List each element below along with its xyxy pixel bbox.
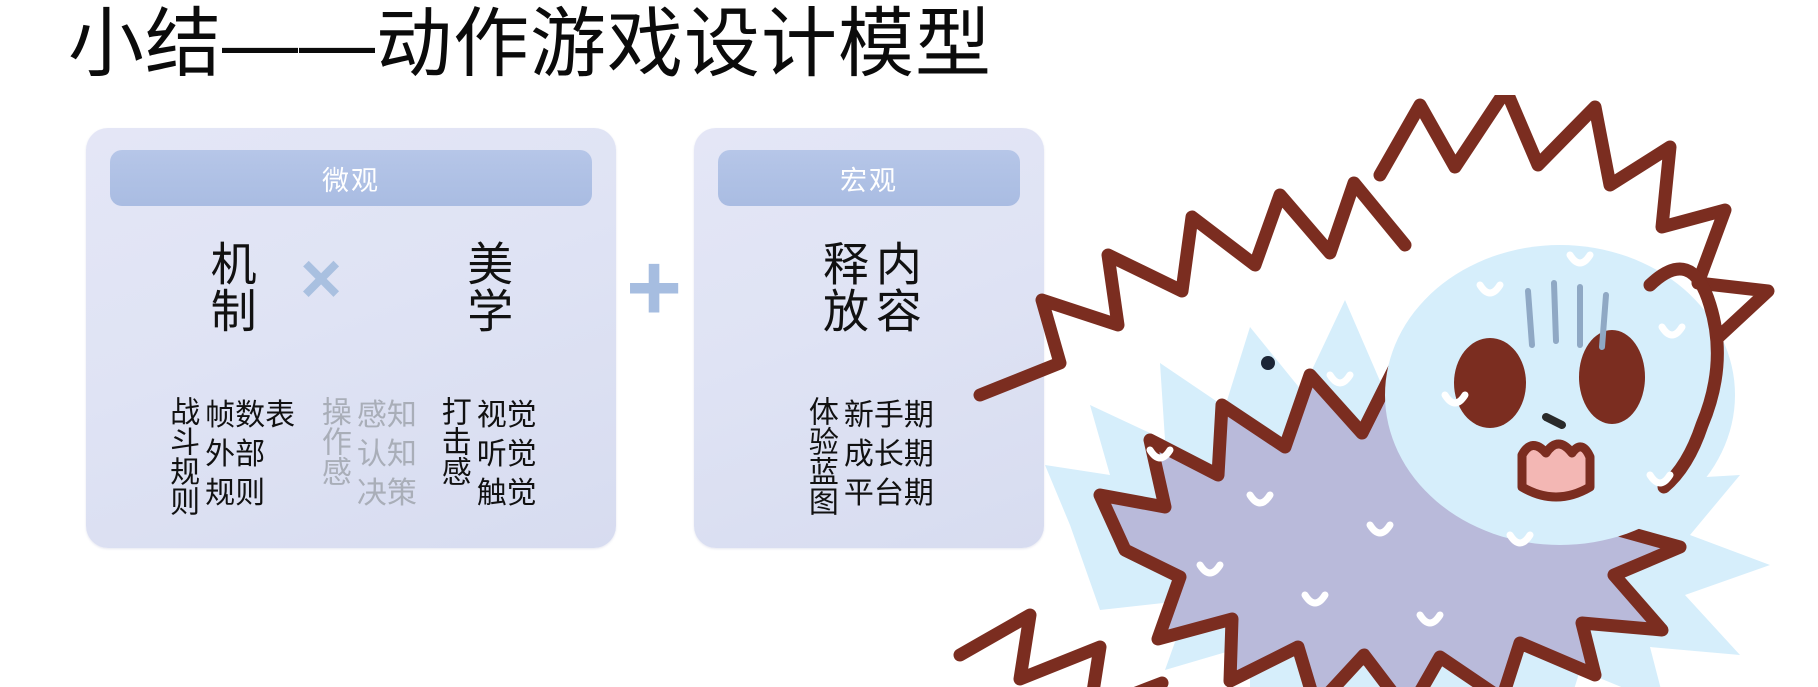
list-item: 感知 (357, 396, 417, 435)
list-item: 规则 (205, 474, 295, 513)
group-release-content-body: 体验蓝图 新手期 成长期 平台期 (804, 396, 934, 516)
multiply-operator-icon: × (300, 243, 342, 315)
group-aesthetics-side-label: 打击感 (437, 396, 469, 486)
group-mechanics-heading: 机制 (207, 240, 254, 348)
mascot-illustration (950, 95, 1818, 687)
panel-micro-header: 微观 (110, 150, 592, 206)
list-item: 成长期 (844, 435, 934, 474)
list-item: 触觉 (477, 474, 537, 513)
list-item: 听觉 (477, 435, 537, 474)
group-mechanics-side-label: 战斗规则 (165, 396, 197, 516)
group-aesthetics-body: 打击感 视觉 听觉 触觉 (437, 396, 537, 513)
group-release-heading: 释放 (819, 240, 866, 348)
panel-macro-header-label: 宏观 (840, 159, 898, 198)
panel-micro-header-label: 微观 (322, 159, 380, 198)
group-aesthetics: 美学 打击感 视觉 听觉 触觉 (437, 224, 537, 513)
list-item: 帧数表 (205, 396, 295, 435)
list-item: 新手期 (844, 396, 934, 435)
page-title: 小结——动作游戏设计模型 (68, 4, 992, 86)
group-operation-feel-body: 操作感 感知 认知 决策 (317, 396, 417, 513)
slide-canvas: 小结——动作游戏设计模型 微观 机制 战斗规则 帧数表 外部 规则 (0, 0, 1818, 687)
panel-micro-columns: 机制 战斗规则 帧数表 外部 规则 操作感 感知 认知 (86, 224, 616, 532)
group-release-content-side-label: 体验蓝图 (804, 396, 836, 516)
list-item: 外部 (205, 435, 295, 474)
group-mechanics-items: 帧数表 外部 规则 (205, 396, 295, 513)
group-operation-feel-items: 感知 认知 决策 (357, 396, 417, 513)
group-operation-feel-side-label: 操作感 (317, 396, 349, 486)
list-item: 视觉 (477, 396, 537, 435)
group-aesthetics-items: 视觉 听觉 触觉 (477, 396, 537, 513)
list-item: 认知 (357, 435, 417, 474)
plus-operator-icon: + (626, 240, 682, 336)
group-release-content: 释放 内容 体验蓝图 新手期 成长期 平台期 (804, 224, 934, 516)
group-mechanics-body: 战斗规则 帧数表 外部 规则 (165, 396, 295, 516)
group-release-content-headings: 释放 内容 (819, 240, 919, 348)
group-mechanics: 机制 战斗规则 帧数表 外部 规则 (165, 224, 295, 516)
group-aesthetics-heading: 美学 (463, 240, 510, 348)
list-item: 决策 (357, 474, 417, 513)
group-release-content-items: 新手期 成长期 平台期 (844, 396, 934, 513)
group-content-heading: 内容 (872, 240, 919, 348)
list-item: 平台期 (844, 474, 934, 513)
panel-micro: 微观 机制 战斗规则 帧数表 外部 规则 操作感 (86, 128, 616, 548)
